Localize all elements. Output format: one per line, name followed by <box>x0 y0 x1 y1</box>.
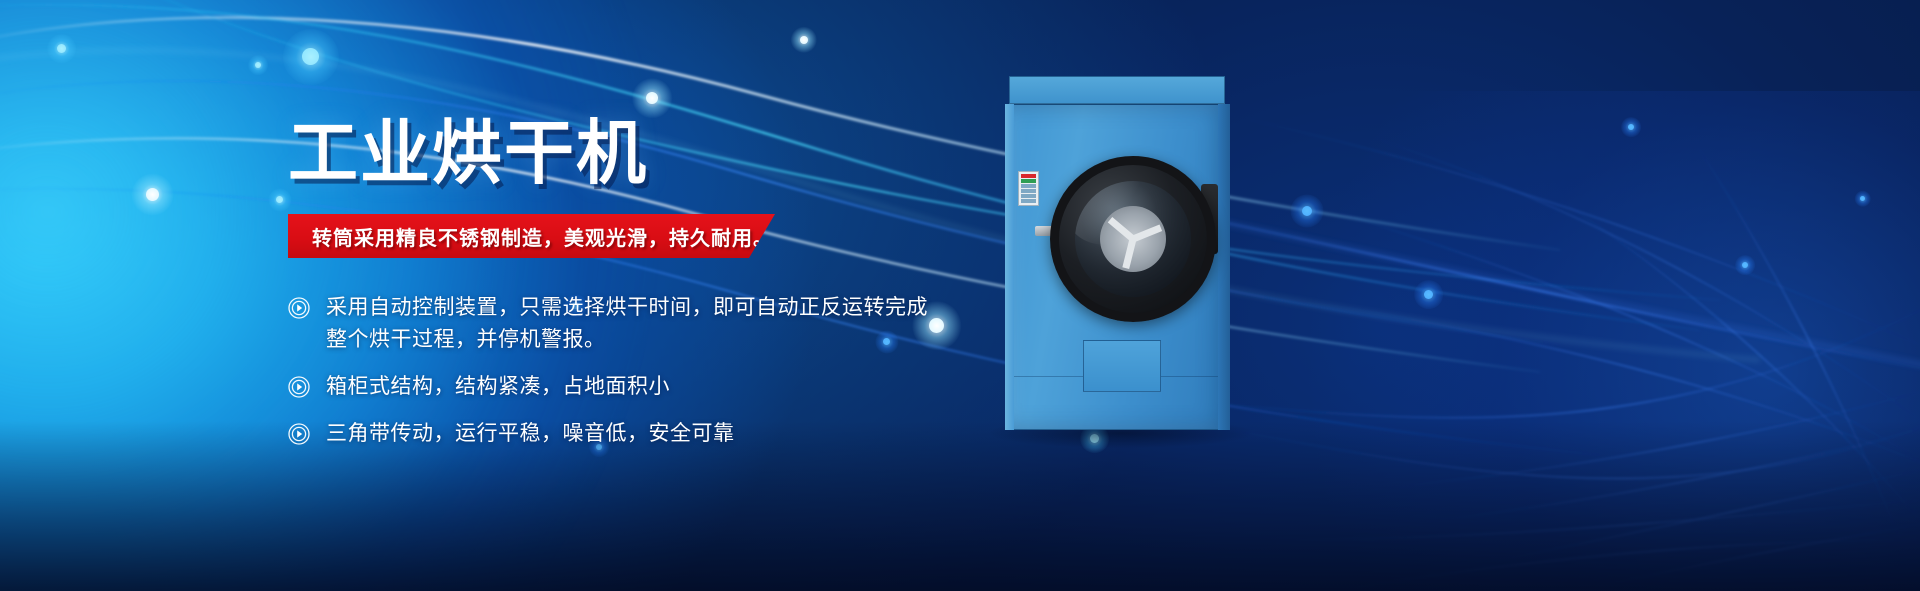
right-glow <box>1280 91 1920 591</box>
list-item-text: 箱柜式结构，结构紧凑，占地面积小 <box>326 371 670 403</box>
drum-door <box>1050 156 1216 322</box>
machine-top-cover <box>1009 76 1225 104</box>
node-dot <box>1302 206 1312 216</box>
door-glass <box>1075 181 1191 297</box>
machine-right-edge <box>1218 104 1230 430</box>
node-dot <box>302 48 319 65</box>
page-title: 工业烘干机 <box>288 118 1028 188</box>
list-item: 箱柜式结构，结构紧凑，占地面积小 <box>288 371 1028 403</box>
node-dot <box>57 44 66 53</box>
product-image-dryer <box>1005 76 1230 430</box>
play-circle-icon <box>288 423 310 445</box>
feature-list: 采用自动控制装置，只需选择烘干时间，即可自动正反运转完成 整个烘干过程，并停机警… <box>288 292 1028 450</box>
list-item: 采用自动控制装置，只需选择烘干时间，即可自动正反运转完成 整个烘干过程，并停机警… <box>288 292 1028 356</box>
node-dot <box>1628 124 1634 130</box>
node-dot <box>800 36 808 44</box>
tagline-wrapper: 转筒采用精良不锈钢制造，美观光滑，持久耐用。 <box>288 214 1028 258</box>
play-circle-icon <box>288 297 310 319</box>
node-dot <box>1742 262 1748 268</box>
tagline-text: 转筒采用精良不锈钢制造，美观光滑，持久耐用。 <box>288 222 774 251</box>
promo-banner: 工业烘干机 转筒采用精良不锈钢制造，美观光滑，持久耐用。 采用自动控制装置，只需… <box>0 0 1920 591</box>
node-dot <box>1424 290 1433 299</box>
node-dot <box>1860 196 1865 201</box>
list-item-text: 三角带传动，运行平稳，噪音低，安全可靠 <box>326 418 735 450</box>
banner-content: 工业烘干机 转筒采用精良不锈钢制造，美观光滑，持久耐用。 采用自动控制装置，只需… <box>288 118 1028 450</box>
node-dot <box>276 196 283 203</box>
node-dot <box>1090 434 1099 443</box>
lint-access-hatch <box>1083 340 1161 392</box>
list-item-text: 采用自动控制装置，只需选择烘干时间，即可自动正反运转完成 整个烘干过程，并停机警… <box>326 292 928 356</box>
machine-seam <box>1014 104 1218 105</box>
tagline-ribbon: 转筒采用精良不锈钢制造，美观光滑，持久耐用。 <box>288 214 775 258</box>
node-dot <box>255 62 261 68</box>
play-circle-icon <box>288 376 310 398</box>
node-dot <box>646 92 658 104</box>
list-item: 三角带传动，运行平稳，噪音低，安全可靠 <box>288 418 1028 450</box>
node-dot <box>146 188 159 201</box>
